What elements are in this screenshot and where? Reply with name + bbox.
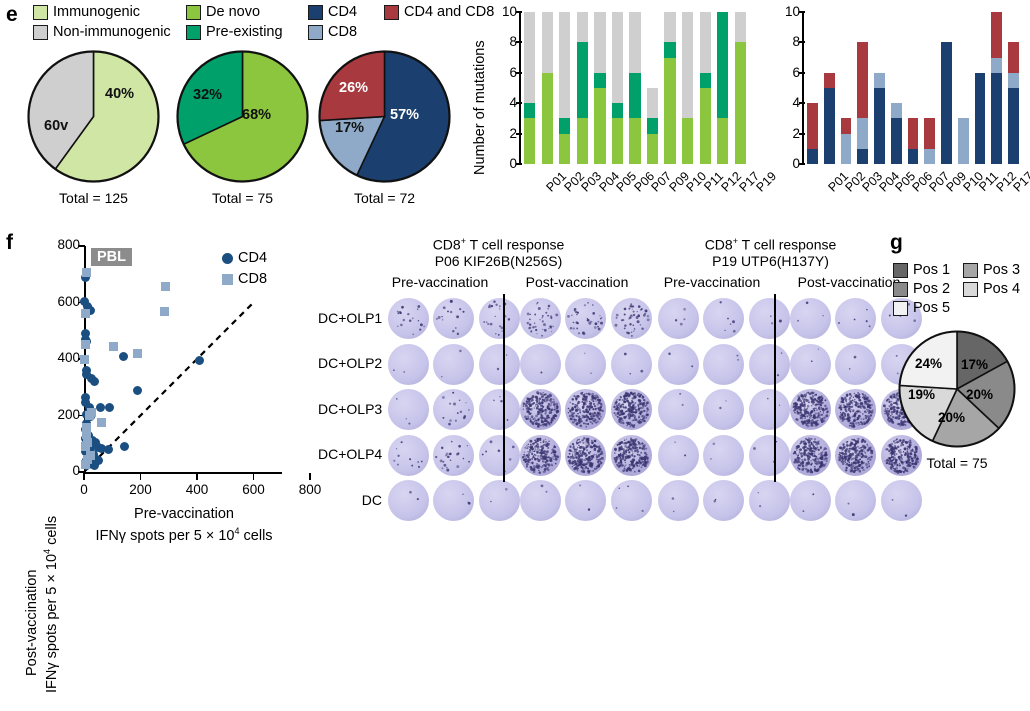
legend-swatch-cd4-and-cd8 [384,5,399,20]
bar-column [524,12,535,164]
bar-segment [908,118,919,148]
bar-segment [542,73,553,164]
legend-item-pos1: Pos 1 [893,262,950,278]
bar-column [559,12,570,164]
elispot-spots [433,298,474,339]
bar-column [612,12,623,164]
elispot-spots [703,480,744,521]
elispot-well [611,344,652,385]
bar-ytick-label: 2 [772,126,800,141]
elispot-spots [658,344,699,385]
elispot-spots [479,480,520,521]
elispot-well [790,344,831,385]
elispot-well [565,298,606,339]
scatter-xtick-label: 400 [177,482,217,497]
bar-chart-mutations-denovo: Number of mutations 0246810 P01P02P03P04… [462,0,762,215]
bar-segment [824,73,835,88]
bar-segment [924,149,935,164]
scatter-point-cd8 [81,460,90,469]
scatter-legend-marker-cd4 [222,253,233,264]
elispot-spots [749,344,790,385]
legend-label-pos2: Pos 2 [913,281,950,297]
elispot-well [881,480,922,521]
elispot-spots [520,435,561,476]
scatter-plot-area [84,246,310,472]
elispot-spots [433,344,474,385]
scatter-xtick-label: 0 [64,482,104,497]
legend-label-de-novo: De novo [206,4,260,20]
bar-segment [612,103,623,118]
elispot-well [703,480,744,521]
pie-cd4-cd8-total: Total = 72 [318,190,451,206]
bar-segment [941,42,952,164]
elispot-spots [611,480,652,521]
bar-ytick-label: 4 [489,95,517,110]
bar-segment [524,103,535,118]
elispot-spots [479,344,520,385]
scatter-point-cd8 [81,340,90,349]
elispot-spots [388,298,429,339]
bar-chart-2-plot [804,12,1022,164]
elispot-spots [611,298,652,339]
elispot-spots [388,389,429,430]
scatter-point-cd4 [120,442,129,451]
bar-ytick-label: 4 [772,95,800,110]
elispot-well [433,389,474,430]
elispot-well [520,344,561,385]
elispot-spots [881,480,922,521]
bar-column [577,12,588,164]
elispot-well [479,389,520,430]
elispot-well [703,298,744,339]
elispot-spots [388,344,429,385]
scatter-legend-label-cd4: CD4 [238,250,267,266]
pie-slice-label-cd8: 17% [335,120,364,136]
bar-column [958,12,969,164]
elispot-well [520,435,561,476]
legend-item-cd8: CD8 [308,24,357,40]
bar-segment [594,73,605,88]
bar-segment [991,58,1002,73]
elispot-spots [433,435,474,476]
bar-column [841,12,852,164]
bar-ytick-label: 0 [489,156,517,171]
bar-ytick-label: 6 [772,65,800,80]
elispot-well-grid [318,236,878,496]
scatter-ytick-label: 800 [42,237,80,252]
elispot-well [835,344,876,385]
elispot-divider-2 [774,294,776,482]
elispot-well [520,389,561,430]
elispot-well [433,435,474,476]
legend-e-column-2: De novo Pre-existing [186,4,283,40]
pie-immunogenicity-svg [27,50,160,183]
bar-column [629,12,640,164]
elispot-well [433,298,474,339]
bar-segment [629,118,640,164]
bar-segment [891,103,902,118]
pie-positions: 17% 20% 20% 19% 24% [898,330,1016,448]
legend-item-de-novo: De novo [186,4,283,20]
elispot-spots [565,389,606,430]
bar-segment [647,118,658,133]
elispot-well [433,344,474,385]
bar-segment [735,42,746,164]
scatter-point-cd4 [96,403,105,412]
elispot-well [749,389,790,430]
bar-ytick-label: 8 [489,34,517,49]
scatter-point-cd8 [160,307,169,316]
bar-segment [524,118,535,164]
elispot-well [835,435,876,476]
elispot-well [658,435,699,476]
legend-item-pre-existing: Pre-existing [186,24,283,40]
bar-segment [612,12,623,103]
bar-segment [664,12,675,42]
elispot-well [479,480,520,521]
bar-segment [577,118,588,164]
elispot-well [520,480,561,521]
elispot-well [611,480,652,521]
bar-column [807,12,818,164]
bar-column [647,12,658,164]
pie-slice-label-cd4-and-cd8: 26% [339,80,368,96]
elispot-well [565,344,606,385]
elispot-well [611,389,652,430]
scatter-pbl: Post-vaccination IFNγ spots per 5 × 104 … [0,228,320,548]
elispot-well [388,298,429,339]
bar-segment [874,88,885,164]
bar-segment [664,58,675,164]
bar-segment [700,88,711,164]
elispot-well [658,480,699,521]
scatter-xtick-mark [140,473,142,480]
bar-chart-1-ylabel: Number of mutations [472,40,488,175]
elispot-spots [520,480,561,521]
legend-item-pos3: Pos 3 [963,262,1020,278]
pie-slice-label-de-novo: 68% [242,107,271,123]
elispot-spots [565,480,606,521]
elispot-divider-1 [503,294,505,482]
elispot-spots [520,298,561,339]
elispot-panel: CD8+ T cell response P06 KIF26B(N256S) C… [318,236,878,496]
bar-segment [735,12,746,42]
legend-label-pos4: Pos 4 [983,281,1020,297]
elispot-spots [703,389,744,430]
elispot-spots [790,344,831,385]
scatter-xlabel-line2: IFNγ spots per 5 × 104 cells [64,526,304,544]
pie-slice-label-immunogenic: 60v [44,118,68,134]
bar-column [682,12,693,164]
scatter-legend-item-cd4: CD4 [222,250,267,266]
scatter-xtick-label: 600 [234,482,274,497]
bar-column [664,12,675,164]
legend-label-non-immunogenic: Non-immunogenic [53,24,171,40]
elispot-spots [658,298,699,339]
elispot-well [658,298,699,339]
scatter-point-cd8 [82,268,91,277]
elispot-well [749,344,790,385]
bar-ytick-label: 0 [772,156,800,171]
bar-segment [908,149,919,164]
elispot-spots [703,344,744,385]
elispot-spots [658,480,699,521]
elispot-well [835,389,876,430]
scatter-xtick-mark [196,473,198,480]
elispot-well [565,480,606,521]
legend-g-column-1: Pos 1 Pos 2 Pos 5 [893,262,950,316]
elispot-spots [479,435,520,476]
bar-ytick-label: 10 [489,4,517,19]
bar-ytick-label: 10 [772,4,800,19]
elispot-spots [703,298,744,339]
pie-slice-label-cd4: 57% [390,107,419,123]
bar-column [542,12,553,164]
bar-segment [664,42,675,57]
scatter-badge-pbl: PBL [91,248,132,266]
bar-column [824,12,835,164]
elispot-spots [790,480,831,521]
elispot-spots [565,298,606,339]
legend-swatch-non-immunogenic [33,25,48,40]
bar-segment [559,118,570,133]
bar-segment [700,73,711,88]
legend-label-pos1: Pos 1 [913,262,950,278]
elispot-well [749,480,790,521]
elispot-well [388,480,429,521]
elispot-spots [479,389,520,430]
scatter-xlabel-line1: Pre-vaccination [84,506,284,522]
bar-segment [857,118,868,148]
scatter-point-cd8 [81,442,90,451]
legend-e-column-3: CD4 CD8 [308,4,357,40]
legend-swatch-pos2 [893,282,908,297]
bar-segment [629,12,640,73]
legend-label-pos3: Pos 3 [983,262,1020,278]
bar-segment [807,103,818,149]
scatter-point-cd8 [109,342,118,351]
bar-column [594,12,605,164]
bar-column [908,12,919,164]
bar-column [735,12,746,164]
elispot-well [388,435,429,476]
pie-cd4-cd8-svg [318,50,451,183]
bar-segment [577,42,588,118]
bar-segment [647,88,658,118]
scatter-point-cd4 [133,386,142,395]
scatter-xtick-mark [309,473,311,480]
scatter-point-cd4 [90,377,99,386]
elispot-spots [790,389,831,430]
scatter-point-cd8 [85,411,94,420]
elispot-spots [835,344,876,385]
elispot-well [790,389,831,430]
bar-column [1008,12,1019,164]
scatter-ytick-label: 600 [42,294,80,309]
elispot-spots [749,480,790,521]
elispot-spots [658,435,699,476]
bar-ytick-label: 6 [489,65,517,80]
bar-segment [647,134,658,164]
bar-segment [542,12,553,73]
bar-segment [975,73,986,164]
scatter-legend-marker-cd8 [222,274,233,285]
bar-column [717,12,728,164]
pie-immunogenicity: 60v 40% [27,50,160,183]
elispot-spots [565,435,606,476]
elispot-well [565,389,606,430]
scatter-ytick-label: 0 [42,463,80,478]
bar-segment [807,149,818,164]
scatter-ytick-label: 200 [42,407,80,422]
legend-swatch-cd8 [308,25,323,40]
elispot-spots [835,298,876,339]
elispot-spots [835,480,876,521]
bar-chart-mutations-cd4cd8: 0246810 P01P02P03P04P05P06P07P09P10P11P1… [760,0,1030,215]
bar-segment [841,118,852,133]
elispot-well [479,298,520,339]
elispot-spots [790,435,831,476]
elispot-spots [388,435,429,476]
elispot-well [749,435,790,476]
bar-segment [891,118,902,164]
elispot-spots [520,344,561,385]
legend-item-pos2: Pos 2 [893,281,950,297]
bar-segment [594,12,605,73]
panel-letter-e: e [6,4,18,25]
elispot-spots [703,435,744,476]
elispot-well [703,344,744,385]
legend-item-immunogenic: Immunogenic [33,4,171,20]
scatter-point-cd8 [161,282,170,291]
bar-segment [594,88,605,164]
legend-swatch-pre-existing [186,25,201,40]
bar-segment [857,42,868,118]
scatter-legend-item-cd8: CD8 [222,271,267,287]
elispot-spots [835,389,876,430]
elispot-well [520,298,561,339]
scatter-xtick-label: 200 [121,482,161,497]
elispot-well [749,298,790,339]
bar-segment [824,88,835,164]
legend-label-cd4: CD4 [328,4,357,20]
elispot-well [565,435,606,476]
elispot-well [703,389,744,430]
elispot-well [790,480,831,521]
legend-item-cd4: CD4 [308,4,357,20]
elispot-well [611,298,652,339]
scatter-ylabel-line2: IFNγ spots per 5 × 104 cells [42,516,60,693]
elispot-well [835,480,876,521]
scatter-legend: CD4 CD8 [222,250,267,287]
bar-ytick-label: 2 [489,126,517,141]
bar-segment [629,73,640,119]
legend-swatch-cd4 [308,5,323,20]
elispot-spots [433,480,474,521]
bar-column [941,12,952,164]
scatter-xtick-mark [83,473,85,480]
pie-slice-label-non-immunogenic: 40% [105,86,134,102]
elispot-well [479,344,520,385]
bar-segment [1008,73,1019,88]
pie-denovo-preexisting: 68% 32% [176,50,309,183]
legend-label-immunogenic: Immunogenic [53,4,140,20]
pie-cd4-cd8: 57% 17% 26% [318,50,451,183]
elispot-well [658,344,699,385]
legend-item-non-immunogenic: Non-immunogenic [33,24,171,40]
elispot-well [790,435,831,476]
legend-g-column-2: Pos 3 Pos 4 [963,262,1020,297]
elispot-well [835,298,876,339]
pie-positions-total: Total = 75 [893,455,1021,471]
elispot-well [703,435,744,476]
pie-denovo-preexisting-total: Total = 75 [176,190,309,206]
pie-immunogenicity-total: Total = 125 [27,190,160,206]
bar-column [991,12,1002,164]
elispot-well [611,435,652,476]
elispot-spots [790,298,831,339]
bar-column [924,12,935,164]
bar-segment [682,118,693,164]
bar-segment [991,73,1002,164]
bar-segment [700,12,711,73]
scatter-point-cd8 [81,309,90,318]
scatter-point-cd4 [105,403,114,412]
bar-column [874,12,885,164]
elispot-well [790,298,831,339]
scatter-xtick-mark [253,473,255,480]
pie-slice-label-pos4: 19% [908,387,935,402]
legend-swatch-de-novo [186,5,201,20]
scatter-point-cd8 [80,355,89,364]
pie-slice-label-pos5: 24% [915,356,942,371]
scatter-point-cd8 [133,349,142,358]
bar-segment [717,118,728,164]
elispot-spots [479,298,520,339]
bar-segment [1008,42,1019,72]
bar-column [975,12,986,164]
elispot-spots [388,480,429,521]
legend-item-pos5: Pos 5 [893,300,950,316]
legend-e-column-1: Immunogenic Non-immunogenic [33,4,171,40]
elispot-spots [749,298,790,339]
elispot-spots [835,435,876,476]
legend-label-pos5: Pos 5 [913,300,950,316]
scatter-ylabel-line1: Post-vaccination [24,570,40,676]
legend-swatch-pos4 [963,282,978,297]
bar-segment [682,12,693,118]
elispot-well [388,344,429,385]
bar-segment [857,149,868,164]
elispot-spots [611,344,652,385]
bar-segment [958,118,969,164]
bar-segment [1008,88,1019,164]
pie-slice-label-pre-existing: 32% [193,87,222,103]
elispot-spots [611,389,652,430]
scatter-point-cd8 [97,418,106,427]
bar-segment [577,12,588,42]
bar-segment [924,118,935,148]
elispot-spots [611,435,652,476]
scatter-point-cd4 [195,356,204,365]
legend-swatch-pos1 [893,263,908,278]
elispot-well [479,435,520,476]
bar-segment [559,12,570,118]
legend-swatch-pos5 [893,301,908,316]
elispot-spots [749,435,790,476]
legend-swatch-pos3 [963,263,978,278]
legend-swatch-immunogenic [33,5,48,20]
